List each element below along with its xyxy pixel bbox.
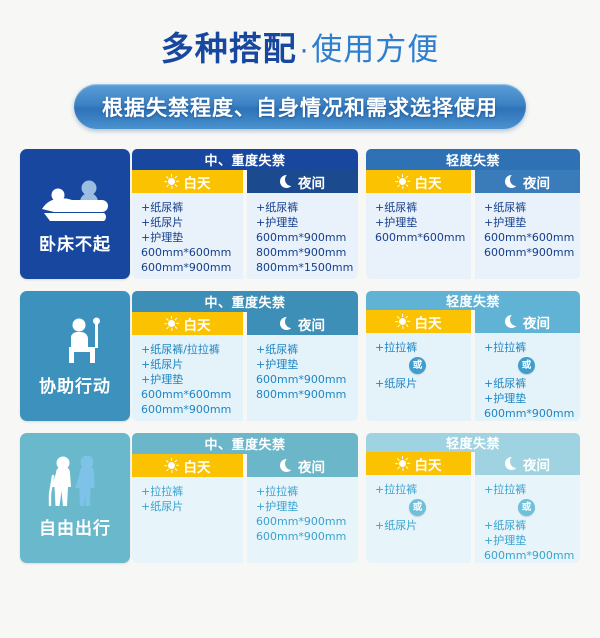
- column-severe-night: 夜间 +纸尿裤+护理垫600mm*900mm800mm*900mm800mm*1…: [247, 170, 358, 279]
- column-header-day[interactable]: 白天: [366, 170, 471, 193]
- caregiver-assisting-person-icon: [39, 316, 111, 364]
- row-label-3[interactable]: 自由出行: [20, 433, 130, 563]
- cell-line: 600mm*900mm: [484, 548, 580, 563]
- row-groups: 中、重度失禁 白天 +拉拉裤+纸尿片 夜间 +拉拉裤+护理垫600mm*900m…: [132, 433, 580, 563]
- page-title-strong: 多种搭配: [161, 29, 297, 68]
- sun-ray: [406, 466, 409, 469]
- sun-ray: [406, 176, 409, 179]
- group-columns: 白天 +拉拉裤+纸尿片 夜间 +拉拉裤+护理垫600mm*900mm600mm*…: [132, 454, 358, 563]
- cell-line: +纸尿片: [141, 215, 243, 230]
- row-label-text: 自由出行: [39, 514, 111, 539]
- cell-line: +护理垫: [256, 357, 358, 372]
- column-header-day-label: 白天: [415, 454, 442, 474]
- row-label-2[interactable]: 协助行动: [20, 291, 130, 421]
- column-severe-day: 白天 +纸尿裤+纸尿片+护理垫600mm*600mm600mm*900mm: [132, 170, 243, 279]
- sun-ray: [166, 184, 169, 187]
- group-severe: 中、重度失禁 白天 +纸尿裤/拉拉裤+纸尿片+护理垫600mm*600mm600…: [132, 291, 358, 421]
- sun-ray: [171, 186, 172, 189]
- group-severe: 中、重度失禁 白天 +纸尿裤+纸尿片+护理垫600mm*600mm600mm*9…: [132, 149, 358, 279]
- column-header-night-label: 夜间: [523, 312, 550, 332]
- page-title-separator: ·: [297, 36, 312, 67]
- group-columns: 白天 +拉拉裤或+纸尿片 夜间 +拉拉裤或+纸尿裤+护理垫600mm*900mm: [366, 310, 580, 421]
- cell-mild-night: +纸尿裤+护理垫600mm*600mm600mm*900mm: [475, 193, 580, 279]
- column-severe-day: 白天 +拉拉裤+纸尿片: [132, 454, 243, 563]
- group-columns: 白天 +纸尿裤+护理垫600mm*600mm 夜间 +纸尿裤+护理垫600mm*…: [366, 170, 580, 279]
- sun-ray: [166, 326, 169, 329]
- cell-mild-day: +纸尿裤+护理垫600mm*600mm: [366, 193, 471, 279]
- cell-line: +拉拉裤: [141, 484, 243, 499]
- row-groups: 中、重度失禁 白天 +纸尿裤/拉拉裤+纸尿片+护理垫600mm*600mm600…: [132, 291, 580, 421]
- sun-ray: [395, 463, 398, 464]
- cell-line: 600mm*900mm: [484, 245, 580, 260]
- column-header-day-label: 白天: [415, 172, 442, 192]
- sun-ray: [175, 326, 178, 329]
- cell-line: +纸尿片: [375, 376, 471, 391]
- group-header-mild: 轻度失禁: [366, 291, 580, 310]
- sun-core: [168, 462, 175, 469]
- column-header-day-label: 白天: [415, 312, 442, 332]
- column-header-day-label: 白天: [184, 172, 211, 192]
- sun-ray: [171, 458, 172, 461]
- page-title: 多种搭配·使用方便: [0, 0, 600, 66]
- cell-line: +拉拉裤: [484, 482, 580, 497]
- column-header-night[interactable]: 夜间: [247, 312, 358, 335]
- column-mild-night: 夜间 +拉拉裤或+纸尿裤+护理垫600mm*900mm: [475, 310, 580, 421]
- or-badge: 或: [409, 357, 426, 374]
- table-row: 自由出行 中、重度失禁 白天 +拉拉裤+纸尿片 夜间 +拉拉裤+护理垫600mm…: [20, 433, 580, 563]
- column-mild-night: 夜间 +拉拉裤或+纸尿裤+护理垫600mm*900mm: [475, 452, 580, 563]
- sun-ray: [166, 468, 169, 471]
- person-lying-in-bed-icon: [38, 174, 112, 222]
- cell-line: +纸尿裤/拉拉裤: [141, 342, 243, 357]
- cell-line: +护理垫: [141, 230, 243, 245]
- comparison-table: 卧床不起 中、重度失禁 白天 +纸尿裤+纸尿片+护理垫600mm*600mm60…: [20, 149, 580, 563]
- moon-icon: [280, 175, 293, 188]
- sun-ray: [171, 470, 172, 473]
- cell-line: 800mm*1500mm: [256, 260, 358, 275]
- group-header-mild: 轻度失禁: [366, 433, 580, 452]
- group-columns: 白天 +纸尿裤/拉拉裤+纸尿片+护理垫600mm*600mm600mm*900m…: [132, 312, 358, 421]
- sun-ray: [171, 316, 172, 319]
- column-header-night[interactable]: 夜间: [475, 170, 580, 193]
- column-header-day[interactable]: 白天: [132, 170, 243, 193]
- sun-icon: [396, 315, 410, 329]
- column-header-night[interactable]: 夜间: [475, 452, 580, 475]
- cell-severe-night: +纸尿裤+护理垫600mm*900mm800mm*900mm: [247, 335, 358, 421]
- cell-severe-day: +纸尿裤/拉拉裤+纸尿片+护理垫600mm*600mm600mm*900mm: [132, 335, 243, 421]
- sun-ray: [164, 465, 167, 466]
- column-header-day[interactable]: 白天: [366, 310, 471, 333]
- column-mild-day: 白天 +纸尿裤+护理垫600mm*600mm: [366, 170, 471, 279]
- sun-ray: [407, 463, 410, 464]
- group-columns: 白天 +拉拉裤或+纸尿片 夜间 +拉拉裤或+纸尿裤+护理垫600mm*900mm: [366, 452, 580, 563]
- sun-ray: [406, 458, 409, 461]
- sun-ray: [397, 466, 400, 469]
- sun-core: [168, 320, 175, 327]
- column-mild-day: 白天 +拉拉裤或+纸尿片: [366, 310, 471, 421]
- sun-icon: [396, 175, 410, 189]
- sun-ray: [402, 456, 403, 459]
- group-mild: 轻度失禁 白天 +拉拉裤或+纸尿片 夜间 +拉拉裤或+纸尿裤+护理垫600mm*…: [366, 433, 580, 563]
- column-mild-day: 白天 +拉拉裤或+纸尿片: [366, 452, 471, 563]
- sun-core: [399, 178, 406, 185]
- sun-ray: [402, 186, 403, 189]
- cell-line: +纸尿裤: [484, 376, 580, 391]
- cell-line: 800mm*900mm: [256, 387, 358, 402]
- subtitle-banner-text: 根据失禁程度、自身情况和需求选择使用: [102, 92, 498, 122]
- cell-line: 600mm*900mm: [256, 514, 358, 529]
- moon-icon: [505, 175, 518, 188]
- cell-line: +护理垫: [484, 391, 580, 406]
- cell-severe-day: +拉拉裤+纸尿片: [132, 477, 243, 563]
- cell-line: 600mm*900mm: [141, 402, 243, 417]
- sun-ray: [175, 468, 178, 471]
- row-groups: 中、重度失禁 白天 +纸尿裤+纸尿片+护理垫600mm*600mm600mm*9…: [132, 149, 580, 279]
- sun-ray: [406, 316, 409, 319]
- sun-ray: [397, 324, 400, 327]
- cell-line: +护理垫: [484, 215, 580, 230]
- cell-severe-day: +纸尿裤+纸尿片+护理垫600mm*600mm600mm*900mm: [132, 193, 243, 279]
- column-header-night-label: 夜间: [298, 456, 325, 476]
- cell-line: +纸尿裤: [256, 200, 358, 215]
- sun-ray: [171, 328, 172, 331]
- cell-line: 600mm*600mm: [375, 230, 471, 245]
- sun-icon: [165, 317, 179, 331]
- cell-line: +纸尿裤: [141, 200, 243, 215]
- cell-line: +护理垫: [141, 372, 243, 387]
- column-header-night-label: 夜间: [298, 172, 325, 192]
- group-columns: 白天 +纸尿裤+纸尿片+护理垫600mm*600mm600mm*900mm 夜间…: [132, 170, 358, 279]
- or-badge: 或: [409, 499, 426, 516]
- cell-line: 600mm*600mm: [141, 387, 243, 402]
- column-severe-night: 夜间 +纸尿裤+护理垫600mm*900mm800mm*900mm: [247, 312, 358, 421]
- cell-mild-day: +拉拉裤或+纸尿片: [366, 333, 471, 421]
- sun-ray: [395, 181, 398, 182]
- cell-line: 600mm*600mm: [484, 230, 580, 245]
- cell-line: +纸尿裤: [256, 342, 358, 357]
- sun-ray: [407, 181, 410, 182]
- sun-core: [168, 178, 175, 185]
- sun-ray: [402, 314, 403, 317]
- or-badge: 或: [518, 357, 535, 374]
- two-people-walking-icon: [46, 458, 104, 506]
- cell-line: +纸尿片: [141, 499, 243, 514]
- cell-line: 600mm*900mm: [484, 406, 580, 421]
- column-severe-night: 夜间 +拉拉裤+护理垫600mm*900mm600mm*900mm: [247, 454, 358, 563]
- cell-mild-night: +拉拉裤或+纸尿裤+护理垫600mm*900mm: [475, 475, 580, 563]
- sun-core: [399, 460, 406, 467]
- cell-line: +护理垫: [375, 215, 471, 230]
- column-mild-night: 夜间 +纸尿裤+护理垫600mm*600mm600mm*900mm: [475, 170, 580, 279]
- sun-ray: [402, 326, 403, 329]
- sun-ray: [171, 174, 172, 177]
- column-header-night[interactable]: 夜间: [247, 170, 358, 193]
- sun-ray: [406, 324, 409, 327]
- group-header-mild: 轻度失禁: [366, 149, 580, 170]
- column-header-day-label: 白天: [184, 456, 211, 476]
- cell-mild-night: +拉拉裤或+纸尿裤+护理垫600mm*900mm: [475, 333, 580, 421]
- sun-ray: [176, 181, 179, 182]
- sun-icon: [396, 457, 410, 471]
- cell-line: 600mm*900mm: [256, 230, 358, 245]
- cell-line: +纸尿裤: [484, 518, 580, 533]
- group-mild: 轻度失禁 白天 +拉拉裤或+纸尿片 夜间 +拉拉裤或+纸尿裤+护理垫600mm*…: [366, 291, 580, 421]
- cell-line: +护理垫: [256, 499, 358, 514]
- group-header-severe: 中、重度失禁: [132, 291, 358, 312]
- sun-ray: [175, 176, 178, 179]
- column-header-day-label: 白天: [184, 314, 211, 334]
- cell-mild-day: +拉拉裤或+纸尿片: [366, 475, 471, 563]
- cell-line: +纸尿片: [141, 357, 243, 372]
- group-header-severe: 中、重度失禁: [132, 149, 358, 170]
- sun-ray: [176, 465, 179, 466]
- cell-line: +拉拉裤: [375, 482, 471, 497]
- subtitle-banner-wrap: 根据失禁程度、自身情况和需求选择使用: [0, 84, 600, 129]
- row-label-1[interactable]: 卧床不起: [20, 149, 130, 279]
- moon-icon: [505, 457, 518, 470]
- or-badge: 或: [518, 499, 535, 516]
- sun-ray: [406, 184, 409, 187]
- table-row: 卧床不起 中、重度失禁 白天 +纸尿裤+纸尿片+护理垫600mm*600mm60…: [20, 149, 580, 279]
- subtitle-banner: 根据失禁程度、自身情况和需求选择使用: [74, 84, 526, 129]
- column-header-night-label: 夜间: [523, 454, 550, 474]
- sun-ray: [175, 184, 178, 187]
- cell-line: +纸尿片: [375, 518, 471, 533]
- sun-ray: [176, 323, 179, 324]
- cell-line: 600mm*900mm: [256, 529, 358, 544]
- sun-ray: [164, 323, 167, 324]
- cell-severe-night: +拉拉裤+护理垫600mm*900mm600mm*900mm: [247, 477, 358, 563]
- cell-severe-night: +纸尿裤+护理垫600mm*900mm800mm*900mm800mm*1500…: [247, 193, 358, 279]
- column-header-day[interactable]: 白天: [366, 452, 471, 475]
- sun-ray: [164, 181, 167, 182]
- moon-icon: [280, 317, 293, 330]
- sun-ray: [397, 184, 400, 187]
- column-severe-day: 白天 +纸尿裤/拉拉裤+纸尿片+护理垫600mm*600mm600mm*900m…: [132, 312, 243, 421]
- sun-ray: [395, 321, 398, 322]
- sun-ray: [407, 321, 410, 322]
- column-header-night-label: 夜间: [298, 314, 325, 334]
- cell-line: 800mm*900mm: [256, 245, 358, 260]
- group-severe: 中、重度失禁 白天 +拉拉裤+纸尿片 夜间 +拉拉裤+护理垫600mm*900m…: [132, 433, 358, 563]
- column-header-night[interactable]: 夜间: [247, 454, 358, 477]
- cell-line: +拉拉裤: [375, 340, 471, 355]
- column-header-night-label: 夜间: [523, 172, 550, 192]
- moon-icon: [505, 315, 518, 328]
- column-header-day[interactable]: 白天: [132, 312, 243, 335]
- group-mild: 轻度失禁 白天 +纸尿裤+护理垫600mm*600mm 夜间 +纸尿裤+护理垫6…: [366, 149, 580, 279]
- cell-line: +护理垫: [484, 533, 580, 548]
- table-row: 协助行动 中、重度失禁 白天 +纸尿裤/拉拉裤+纸尿片+护理垫600mm*600…: [20, 291, 580, 421]
- sun-ray: [402, 174, 403, 177]
- cell-line: +纸尿裤: [375, 200, 471, 215]
- row-label-text: 协助行动: [39, 372, 111, 397]
- sun-core: [399, 318, 406, 325]
- cell-line: +护理垫: [256, 215, 358, 230]
- page-title-light: 使用方便: [311, 32, 439, 68]
- row-label-text: 卧床不起: [39, 230, 111, 255]
- sun-ray: [175, 460, 178, 463]
- sun-ray: [175, 318, 178, 321]
- sun-ray: [402, 468, 403, 471]
- column-header-day[interactable]: 白天: [132, 454, 243, 477]
- column-header-night[interactable]: 夜间: [475, 310, 580, 333]
- cell-line: +拉拉裤: [484, 340, 580, 355]
- cell-line: +拉拉裤: [256, 484, 358, 499]
- moon-icon: [280, 459, 293, 472]
- cell-line: 600mm*900mm: [141, 260, 243, 275]
- cell-line: 600mm*600mm: [141, 245, 243, 260]
- cell-line: +纸尿裤: [484, 200, 580, 215]
- group-header-severe: 中、重度失禁: [132, 433, 358, 454]
- sun-icon: [165, 175, 179, 189]
- sun-icon: [165, 459, 179, 473]
- cell-line: 600mm*900mm: [256, 372, 358, 387]
